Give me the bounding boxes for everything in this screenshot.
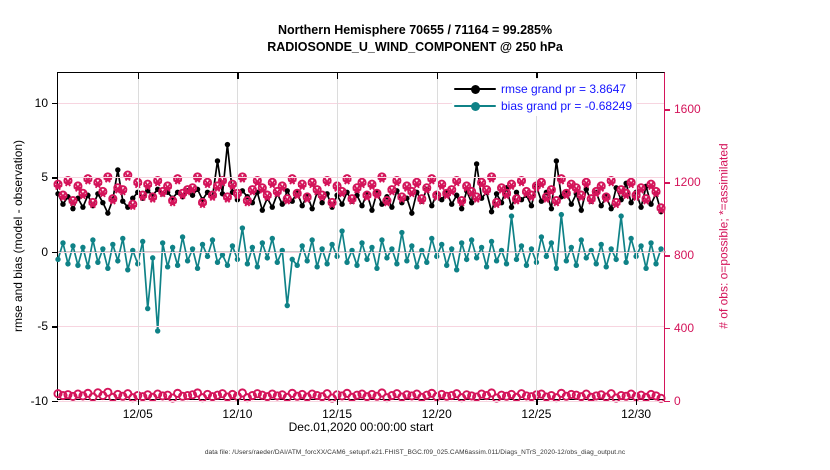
series-point bbox=[299, 243, 304, 248]
right-axis-tick-label: 400 bbox=[674, 321, 694, 335]
right-axis-tick bbox=[664, 255, 670, 256]
left-axis-tick bbox=[52, 326, 58, 327]
right-axis-title-text: # of obs: o=possible; *=assimilated bbox=[717, 143, 731, 328]
series-point bbox=[494, 191, 499, 196]
series-point bbox=[489, 239, 494, 244]
data-series-layer bbox=[58, 73, 666, 401]
series-point bbox=[359, 240, 364, 245]
series-point bbox=[230, 243, 235, 248]
series-point bbox=[359, 203, 364, 208]
series-point bbox=[638, 204, 643, 209]
bottom-axis-tick bbox=[337, 399, 338, 405]
series-point bbox=[225, 263, 230, 268]
series-point bbox=[55, 257, 60, 262]
right-axis-tick bbox=[664, 109, 670, 110]
series-point bbox=[75, 263, 80, 268]
gridline-vertical bbox=[437, 73, 438, 399]
series-point bbox=[275, 260, 280, 265]
series-point bbox=[648, 240, 653, 245]
series-point bbox=[255, 264, 260, 269]
series-point bbox=[409, 210, 414, 215]
gridline-vertical bbox=[138, 73, 139, 399]
series-point bbox=[424, 260, 429, 265]
series-point bbox=[369, 207, 374, 212]
series-point bbox=[354, 263, 359, 268]
bottom-axis-tick-label: 12/10 bbox=[222, 407, 252, 421]
series-line bbox=[55, 212, 663, 334]
bottom-axis-tick bbox=[138, 73, 139, 79]
series-point bbox=[549, 206, 554, 211]
series-point bbox=[65, 261, 70, 266]
series-point bbox=[409, 243, 414, 248]
series-point bbox=[479, 245, 484, 250]
series-point bbox=[514, 257, 519, 262]
series-point bbox=[80, 204, 85, 209]
page-title: Northern Hemisphere 70655 / 71164 = 99.2… bbox=[0, 22, 830, 56]
legend-label-rmse: rmse grand pr = 3.8647 bbox=[501, 82, 626, 96]
series-point bbox=[404, 258, 409, 263]
left-axis-tick-label: -10 bbox=[31, 394, 48, 408]
series-point bbox=[364, 257, 369, 262]
legend-item-bias[interactable]: bias grand pr = -0.68249 bbox=[454, 97, 632, 114]
series-point bbox=[260, 207, 265, 212]
series-point bbox=[554, 158, 559, 163]
series-point bbox=[369, 245, 374, 250]
series-point bbox=[459, 240, 464, 245]
series-point bbox=[115, 258, 120, 263]
series-point bbox=[155, 328, 160, 333]
gridline-horizontal bbox=[58, 177, 664, 178]
series-point bbox=[484, 264, 489, 269]
series-point bbox=[504, 261, 509, 266]
series-point bbox=[170, 245, 175, 250]
series-point bbox=[653, 261, 658, 266]
series-point bbox=[449, 246, 454, 251]
series-point bbox=[449, 202, 454, 207]
series-point bbox=[564, 258, 569, 263]
series-point bbox=[474, 255, 479, 260]
series-point bbox=[469, 237, 474, 242]
series-point bbox=[389, 246, 394, 251]
gridline-horizontal bbox=[58, 326, 664, 327]
series-point bbox=[100, 246, 105, 251]
series-point bbox=[599, 242, 604, 247]
series-point bbox=[309, 237, 314, 242]
series-point bbox=[519, 243, 524, 248]
series-point bbox=[618, 213, 623, 218]
series-point bbox=[514, 190, 519, 195]
right-axis-tick-label: 800 bbox=[674, 248, 694, 262]
series-point bbox=[220, 252, 225, 257]
left-axis-tick bbox=[52, 401, 58, 402]
series-open-circle bbox=[54, 389, 664, 402]
series-point bbox=[240, 225, 245, 230]
legend-swatch-bias bbox=[454, 100, 496, 112]
series-point bbox=[549, 240, 554, 245]
series-point bbox=[628, 236, 633, 241]
series-point bbox=[494, 258, 499, 263]
series-point bbox=[215, 260, 220, 265]
series-point bbox=[260, 240, 265, 245]
right-axis-title: # of obs: o=possible; *=assimilated bbox=[715, 72, 733, 400]
series-point bbox=[454, 193, 459, 198]
series-point bbox=[265, 255, 270, 260]
series-point bbox=[344, 260, 349, 265]
series-point bbox=[309, 206, 314, 211]
series-point bbox=[429, 236, 434, 241]
series-point bbox=[599, 203, 604, 208]
series-point bbox=[454, 267, 459, 272]
series-point bbox=[105, 266, 110, 271]
series-point bbox=[559, 212, 564, 217]
series-point bbox=[529, 203, 534, 208]
left-axis-title-text: rmse and bias (model - observation) bbox=[11, 140, 25, 332]
series-point bbox=[489, 209, 494, 214]
series-line bbox=[58, 215, 661, 331]
bottom-axis-tick bbox=[237, 73, 238, 79]
plot-page: Northern Hemisphere 70655 / 71164 = 99.2… bbox=[0, 0, 830, 470]
title-line-1: Northern Hemisphere 70655 / 71164 = 99.2… bbox=[0, 22, 830, 39]
bottom-axis-tick bbox=[437, 73, 438, 79]
bottom-axis-tick bbox=[337, 73, 338, 79]
series-point bbox=[215, 158, 220, 163]
series-point bbox=[579, 237, 584, 242]
series-point bbox=[180, 234, 185, 239]
series-point bbox=[414, 264, 419, 269]
series-point bbox=[608, 246, 613, 251]
series-point bbox=[554, 266, 559, 271]
bottom-axis-tick-label: 12/20 bbox=[422, 407, 452, 421]
series-point bbox=[439, 242, 444, 247]
series-point bbox=[509, 204, 514, 209]
series-point bbox=[544, 254, 549, 259]
series-point bbox=[160, 240, 165, 245]
legend: rmse grand pr = 3.8647 bias grand pr = -… bbox=[452, 78, 636, 116]
series-point bbox=[374, 266, 379, 271]
series-point bbox=[175, 263, 180, 268]
left-axis-tick-label: 0 bbox=[41, 245, 48, 259]
series-point bbox=[299, 203, 304, 208]
bottom-axis-tick bbox=[636, 73, 637, 79]
left-axis-tick bbox=[52, 103, 58, 104]
series-point bbox=[429, 203, 434, 208]
series-point bbox=[60, 240, 65, 245]
bottom-axis-tick bbox=[636, 399, 637, 405]
series-point bbox=[140, 239, 145, 244]
gridline-vertical bbox=[636, 73, 637, 399]
series-point bbox=[285, 303, 290, 308]
series-point bbox=[539, 234, 544, 239]
legend-swatch-rmse bbox=[454, 83, 496, 95]
series-point bbox=[270, 204, 275, 209]
series-point bbox=[324, 261, 329, 266]
series-point bbox=[648, 202, 653, 207]
left-axis-tick bbox=[52, 177, 58, 178]
right-axis-tick-label: 1200 bbox=[674, 175, 701, 189]
data-file-footer: data file: /Users/raeder/DAI/ATM_forcXX/… bbox=[0, 449, 830, 456]
gridline-vertical bbox=[237, 73, 238, 399]
left-axis-tick-label: 5 bbox=[41, 170, 48, 184]
series-point bbox=[120, 199, 125, 204]
series-point bbox=[339, 202, 344, 207]
series-point bbox=[394, 261, 399, 266]
series-point bbox=[314, 264, 319, 269]
series-point bbox=[150, 255, 155, 260]
series-point bbox=[399, 230, 404, 235]
series-point bbox=[60, 202, 65, 207]
series-point bbox=[524, 263, 529, 268]
series-point bbox=[638, 243, 643, 248]
bottom-axis-tick-label: 12/05 bbox=[123, 407, 153, 421]
series-point bbox=[608, 206, 613, 211]
bottom-axis-title: Dec.01,2020 00:00:00 start bbox=[57, 420, 665, 434]
series-point bbox=[389, 204, 394, 209]
series-point bbox=[464, 257, 469, 262]
series-point bbox=[379, 237, 384, 242]
series-point bbox=[295, 263, 300, 268]
series-point bbox=[569, 245, 574, 250]
series-point bbox=[459, 206, 464, 211]
series-point bbox=[210, 237, 215, 242]
bottom-axis-tick-label: 12/15 bbox=[322, 407, 352, 421]
bottom-axis-tick bbox=[536, 399, 537, 405]
title-line-2: RADIOSONDE_U_WIND_COMPONENT @ 250 hPa bbox=[0, 39, 830, 56]
series-point bbox=[205, 254, 210, 259]
series-point bbox=[658, 246, 663, 251]
series-point bbox=[509, 213, 514, 218]
series-point bbox=[469, 200, 474, 205]
series-point bbox=[85, 264, 90, 269]
left-axis-tick-label: 10 bbox=[35, 96, 48, 110]
series-point bbox=[339, 228, 344, 233]
series-point bbox=[319, 246, 324, 251]
series-point bbox=[185, 258, 190, 263]
right-axis-tick-label: 1600 bbox=[674, 102, 701, 116]
series-point bbox=[474, 161, 479, 166]
series-point bbox=[290, 257, 295, 262]
series-point bbox=[384, 255, 389, 260]
series-point bbox=[195, 266, 200, 271]
right-axis-tick bbox=[664, 401, 670, 402]
series-point bbox=[628, 200, 633, 205]
series-point bbox=[90, 237, 95, 242]
series-point bbox=[594, 261, 599, 266]
bottom-axis-tick bbox=[237, 399, 238, 405]
series-point bbox=[115, 167, 120, 172]
right-axis-tick bbox=[664, 182, 670, 183]
series-point bbox=[70, 243, 75, 248]
series-point bbox=[120, 236, 125, 241]
series-point bbox=[280, 202, 285, 207]
series-point bbox=[584, 255, 589, 260]
series-point bbox=[304, 258, 309, 263]
series-point bbox=[95, 260, 100, 265]
series-point bbox=[225, 142, 230, 147]
series-point bbox=[200, 242, 205, 247]
series-point bbox=[165, 264, 170, 269]
bottom-axis-tick-label: 12/25 bbox=[521, 407, 551, 421]
bottom-axis-tick-label: 12/30 bbox=[621, 407, 651, 421]
gridline-vertical bbox=[337, 73, 338, 399]
plot-area[interactable]: -10-5051004008001200160012/0512/1012/151… bbox=[57, 72, 665, 400]
series-point bbox=[70, 206, 75, 211]
right-axis-tick-label: 0 bbox=[674, 394, 681, 408]
left-axis-tick bbox=[52, 252, 58, 253]
series-point bbox=[603, 264, 608, 269]
series-point bbox=[329, 242, 334, 247]
gridline-horizontal bbox=[58, 401, 664, 402]
right-axis-tick bbox=[664, 328, 670, 329]
bottom-axis-tick bbox=[437, 399, 438, 405]
series-point bbox=[574, 263, 579, 268]
series-point bbox=[529, 246, 534, 251]
series-point bbox=[80, 245, 85, 250]
series-point bbox=[643, 266, 648, 271]
series-point bbox=[444, 263, 449, 268]
series-point bbox=[145, 306, 150, 311]
series-point bbox=[190, 246, 195, 251]
series-point bbox=[319, 200, 324, 205]
left-axis-tick-label: -5 bbox=[37, 319, 48, 333]
legend-item-rmse[interactable]: rmse grand pr = 3.8647 bbox=[454, 80, 632, 97]
series-point bbox=[110, 242, 115, 247]
series-point bbox=[100, 200, 105, 205]
series-point bbox=[245, 261, 250, 266]
series-point bbox=[613, 257, 618, 262]
series-point bbox=[125, 267, 130, 272]
gridline-vertical bbox=[536, 73, 537, 399]
series-point bbox=[579, 207, 584, 212]
series-point bbox=[623, 260, 628, 265]
legend-label-bias: bias grand pr = -0.68249 bbox=[501, 99, 632, 113]
series-point bbox=[270, 236, 275, 241]
left-axis-title: rmse and bias (model - observation) bbox=[9, 72, 27, 400]
series-point bbox=[569, 202, 574, 207]
gridline-horizontal bbox=[58, 252, 664, 253]
series-point bbox=[105, 210, 110, 215]
bottom-axis-tick bbox=[138, 399, 139, 405]
series-point bbox=[250, 245, 255, 250]
